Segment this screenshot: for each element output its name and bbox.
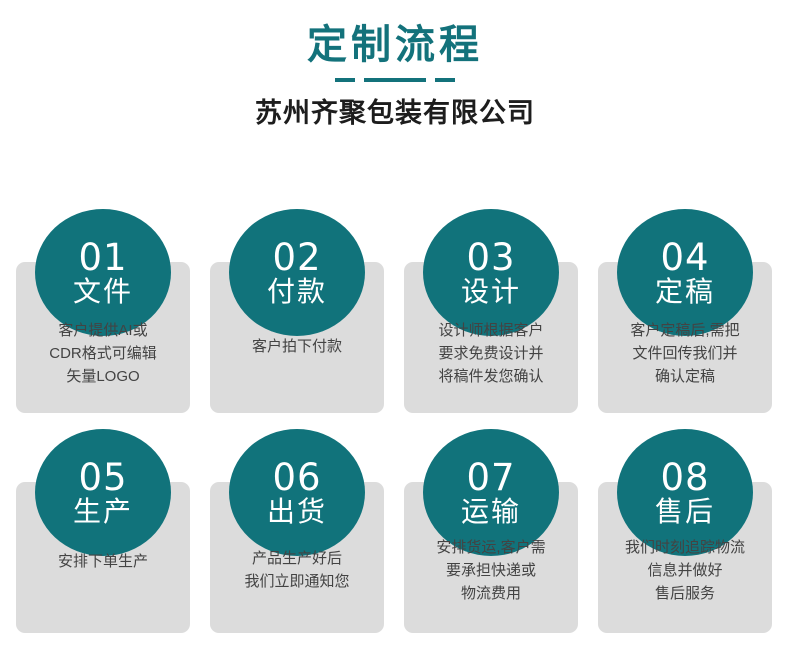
step-badge-01: 01 文件 <box>35 209 171 336</box>
step-badge-03: 03 设计 <box>423 209 559 336</box>
step-name-05: 生产 <box>73 498 133 526</box>
step-number-01: 01 <box>78 239 127 276</box>
page-title: 定制流程 <box>0 22 790 68</box>
step-card-01: 01 文件 客户提供AI或 CDR格式可编辑 矢量LOGO <box>16 209 190 413</box>
step-description-08: 我们时刻追踪物流 信息并做好 售后服务 <box>598 536 772 605</box>
step-name-01: 文件 <box>73 278 133 306</box>
step-description-01: 客户提供AI或 CDR格式可编辑 矢量LOGO <box>16 319 190 388</box>
step-description-03: 设计师根据客户 要求免费设计并 将稿件发您确认 <box>404 319 578 388</box>
page-header: 定制流程 苏州齐聚包装有限公司 <box>0 0 790 129</box>
step-card-08: 08 售后 我们时刻追踪物流 信息并做好 售后服务 <box>598 429 772 633</box>
step-badge-04: 04 定稿 <box>617 209 753 336</box>
step-number-04: 04 <box>660 239 709 276</box>
step-name-04: 定稿 <box>655 278 715 306</box>
step-badge-02: 02 付款 <box>229 209 365 336</box>
title-divider <box>322 77 468 83</box>
step-number-08: 08 <box>660 459 709 496</box>
divider-dash-right <box>435 78 455 82</box>
step-number-02: 02 <box>272 239 321 276</box>
step-name-02: 付款 <box>267 278 327 306</box>
divider-dash-left <box>335 78 355 82</box>
step-card-06: 06 出货 产品生产好后 我们立即通知您 <box>210 429 384 633</box>
step-card-02: 02 付款 客户拍下付款 <box>210 209 384 413</box>
step-badge-06: 06 出货 <box>229 429 365 556</box>
step-card-03: 03 设计 设计师根据客户 要求免费设计并 将稿件发您确认 <box>404 209 578 413</box>
step-name-06: 出货 <box>267 498 327 526</box>
step-card-07: 07 运输 安排货运,客户需 要承担快递或 物流费用 <box>404 429 578 633</box>
step-description-06: 产品生产好后 我们立即通知您 <box>210 547 384 593</box>
step-card-04: 04 定稿 客户定稿后,需把 文件回传我们并 确认定稿 <box>598 209 772 413</box>
step-name-07: 运输 <box>461 498 521 526</box>
step-description-05: 安排下单生产 <box>16 550 190 573</box>
step-description-04: 客户定稿后,需把 文件回传我们并 确认定稿 <box>598 319 772 388</box>
company-name: 苏州齐聚包装有限公司 <box>0 97 790 129</box>
step-number-06: 06 <box>272 459 321 496</box>
step-name-08: 售后 <box>655 498 715 526</box>
step-number-05: 05 <box>78 459 127 496</box>
step-description-02: 客户拍下付款 <box>210 335 384 358</box>
step-description-07: 安排货运,客户需 要承担快递或 物流费用 <box>404 536 578 605</box>
step-card-05: 05 生产 安排下单生产 <box>16 429 190 633</box>
step-name-03: 设计 <box>461 278 521 306</box>
divider-dash-center <box>364 78 426 82</box>
step-badge-05: 05 生产 <box>35 429 171 556</box>
step-number-03: 03 <box>466 239 515 276</box>
process-steps-grid: 01 文件 客户提供AI或 CDR格式可编辑 矢量LOGO 02 付款 客户拍下… <box>16 209 774 649</box>
step-number-07: 07 <box>466 459 515 496</box>
